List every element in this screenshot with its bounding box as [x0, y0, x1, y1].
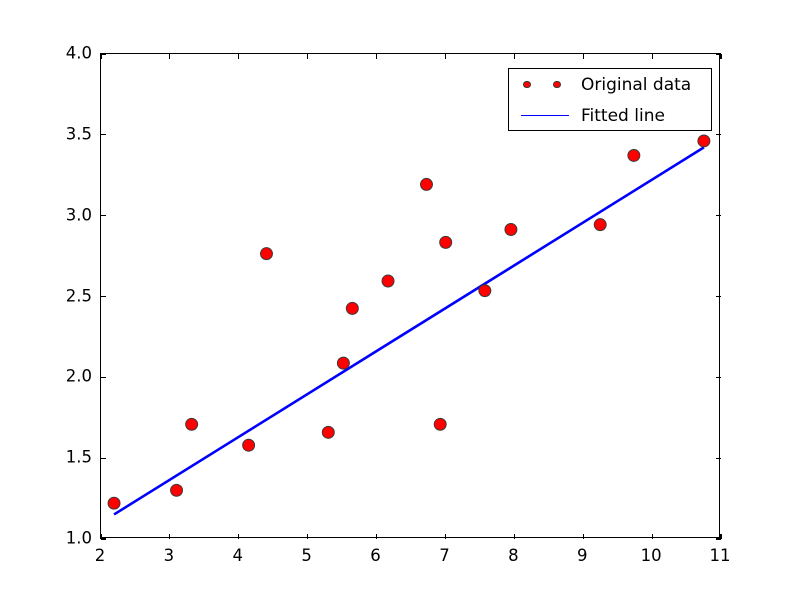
legend-marker-original-data: [509, 69, 581, 100]
x-tick-label: 5: [301, 546, 312, 565]
y-tick-label: 2.5: [8, 286, 92, 305]
x-tick-label: 11: [710, 546, 731, 565]
x-tick-label: 4: [233, 546, 244, 565]
legend-box: Original data Fitted line: [508, 68, 712, 131]
fitted-line-path: [114, 147, 704, 514]
data-point: [434, 418, 446, 430]
x-tick-label: 9: [577, 546, 588, 565]
y-tick-label: 2.0: [8, 367, 92, 386]
legend-entry-original-data: Original data: [509, 69, 711, 100]
y-tick-label: 3.5: [8, 124, 92, 143]
data-point: [594, 219, 606, 231]
data-point: [698, 135, 710, 147]
legend-label-fitted-line: Fitted line: [581, 106, 665, 126]
legend-marker-fitted-line: [509, 100, 581, 131]
data-point: [171, 484, 183, 496]
data-point: [382, 275, 394, 287]
data-point: [440, 236, 452, 248]
data-point: [108, 497, 120, 509]
legend-label-original-data: Original data: [581, 75, 691, 95]
data-point: [261, 248, 273, 260]
data-point: [420, 178, 432, 190]
fitted-line: [114, 147, 704, 514]
legend-entry-fitted-line: Fitted line: [509, 100, 711, 131]
x-tick-label: 8: [508, 546, 519, 565]
data-point: [628, 149, 640, 161]
scatter-plot-figure: 1.01.52.02.53.03.54.0 234567891011 Origi…: [0, 0, 800, 600]
data-point: [243, 439, 255, 451]
legend-dot-right: [553, 81, 561, 89]
scatter-points: [108, 135, 710, 509]
data-point: [505, 224, 517, 236]
x-tick-label: 10: [641, 546, 662, 565]
y-tick-label: 3.0: [8, 205, 92, 224]
x-tick-label: 3: [164, 546, 175, 565]
x-tick-label: 2: [95, 546, 106, 565]
legend-line-swatch: [521, 115, 569, 116]
x-tickmark: [720, 534, 721, 539]
x-tick-label: 7: [439, 546, 450, 565]
y-tick-label: 4.0: [8, 44, 92, 63]
x-tickmark-top: [720, 54, 721, 59]
data-point: [186, 418, 198, 430]
x-tick-label: 6: [370, 546, 381, 565]
y-tickmark: [101, 538, 106, 539]
y-tick-label: 1.5: [8, 448, 92, 467]
data-point: [346, 302, 358, 314]
data-point: [337, 357, 349, 369]
data-point: [479, 285, 491, 297]
legend-dot-left: [523, 81, 531, 89]
data-point: [322, 426, 334, 438]
y-tick-label: 1.0: [8, 529, 92, 548]
